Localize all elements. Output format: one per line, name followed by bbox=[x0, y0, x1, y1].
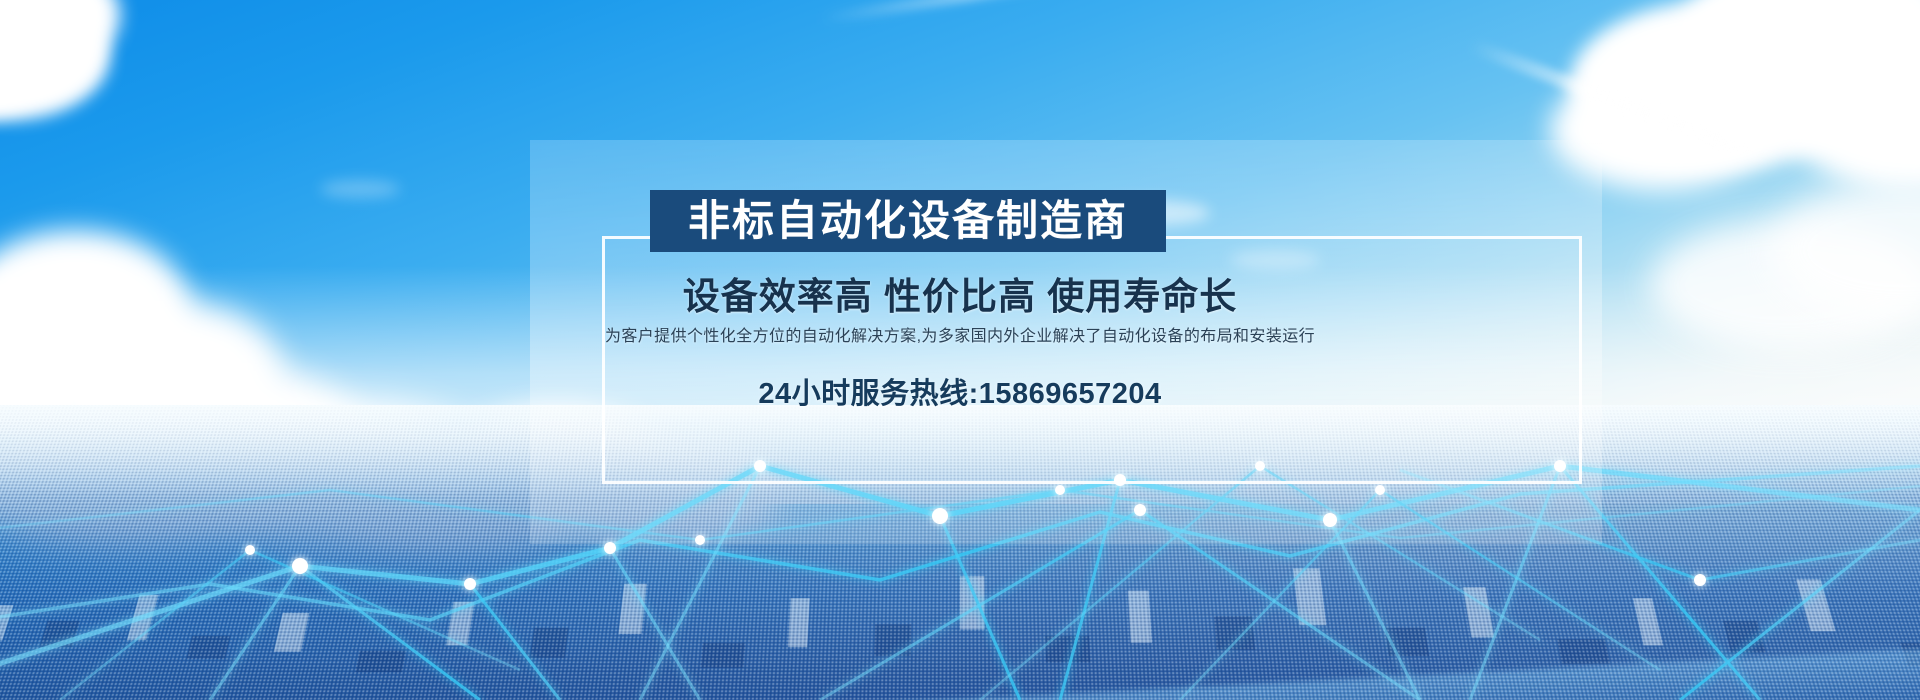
page-title: 非标自动化设备制造商 bbox=[688, 200, 1128, 242]
headline-text: 设备效率高 性价比高 使用寿命长 bbox=[0, 266, 1920, 320]
cloud-wisp-c bbox=[320, 180, 400, 198]
description-text: 为客户提供个性化全方位的自动化解决方案,为多家国内外企业解决了自动化设备的布局和… bbox=[0, 322, 1920, 346]
hotline-text: 24小时服务热线:15869657204 bbox=[0, 370, 1920, 412]
title-badge: 非标自动化设备制造商 bbox=[650, 190, 1166, 252]
cloud-top-left bbox=[0, 0, 210, 130]
hero-banner: 非标自动化设备制造商 设备效率高 性价比高 使用寿命长 为客户提供个性化全方位的… bbox=[0, 0, 1920, 700]
